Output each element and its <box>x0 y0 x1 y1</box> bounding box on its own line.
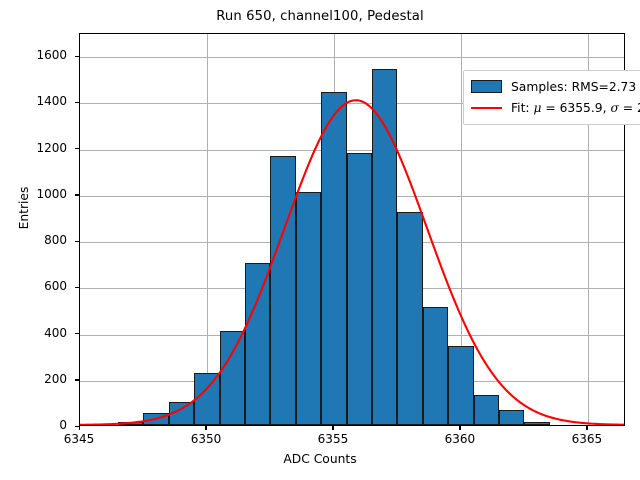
legend-swatch-fit-icon <box>471 107 502 109</box>
x-tick-label: 6355 <box>293 432 373 446</box>
histogram-bar <box>245 263 270 425</box>
x-tick-mark <box>586 426 587 430</box>
y-tick-label: 200 <box>7 372 67 386</box>
histogram-bar <box>397 212 422 425</box>
histogram-bar <box>270 156 295 425</box>
legend-label-fit: Fit: μ = 6355.9, σ = 2.814 <box>511 101 640 115</box>
histogram-bar <box>143 413 168 425</box>
y-tick-mark <box>75 194 79 195</box>
y-tick-label: 0 <box>7 418 67 432</box>
y-tick-label: 1400 <box>7 94 67 108</box>
histogram-bar <box>474 395 499 425</box>
y-tick-label: 1600 <box>7 48 67 62</box>
y-tick-label: 800 <box>7 233 67 247</box>
y-tick-label: 600 <box>7 279 67 293</box>
x-tick-mark <box>205 426 206 430</box>
histogram-bar <box>169 402 194 425</box>
y-tick-mark <box>75 102 79 103</box>
histogram-bar <box>372 69 397 425</box>
plot-area: Samples: RMS=2.73 Fit: μ = 6355.9, σ = 2… <box>79 33 625 426</box>
y-tick-mark <box>75 148 79 149</box>
legend-fit-sigma-value: = 2.814 <box>619 101 640 115</box>
legend-fit-prefix: Fit: <box>511 101 533 115</box>
x-tick-label: 6360 <box>420 432 500 446</box>
y-tick-mark <box>75 379 79 380</box>
histogram-bar <box>524 422 549 425</box>
legend-swatch-samples-icon <box>471 80 502 93</box>
histogram-bar <box>194 373 219 425</box>
x-tick-label: 6350 <box>166 432 246 446</box>
legend-box: Samples: RMS=2.73 Fit: μ = 6355.9, σ = 2… <box>463 70 640 125</box>
y-tick-mark <box>75 241 79 242</box>
legend-fit-sigma-symbol: σ <box>610 101 618 115</box>
x-tick-mark <box>459 426 460 430</box>
page-title: Run 650, channel100, Pedestal <box>0 9 640 24</box>
y-tick-mark <box>75 56 79 57</box>
y-axis-label: Entries <box>17 108 31 308</box>
legend-fit-mu-value: = 6355.9, <box>541 101 610 115</box>
histogram-bar <box>499 410 524 425</box>
y-tick-mark <box>75 287 79 288</box>
y-tick-label: 400 <box>7 326 67 340</box>
legend-item-samples[interactable]: Samples: RMS=2.73 <box>471 76 640 97</box>
histogram-bar <box>347 153 372 425</box>
x-tick-label: 6365 <box>547 432 627 446</box>
y-tick-label: 1200 <box>7 141 67 155</box>
figure-canvas: Run 650, channel100, Pedestal Samples: R… <box>0 0 640 480</box>
histogram-bar <box>220 331 245 425</box>
histogram-bar <box>321 92 346 425</box>
x-tick-mark <box>79 426 80 430</box>
y-tick-label: 1000 <box>7 187 67 201</box>
legend-item-fit[interactable]: Fit: μ = 6355.9, σ = 2.814 <box>471 97 640 118</box>
y-tick-mark <box>75 333 79 334</box>
x-axis-label: ADC Counts <box>0 452 640 466</box>
histogram-bar <box>423 307 448 425</box>
histogram-bar <box>296 192 321 425</box>
histogram-bar <box>448 346 473 425</box>
x-tick-label: 6345 <box>39 432 119 446</box>
histogram-bar <box>118 422 143 425</box>
x-tick-mark <box>332 426 333 430</box>
legend-label-samples: Samples: RMS=2.73 <box>511 80 636 94</box>
